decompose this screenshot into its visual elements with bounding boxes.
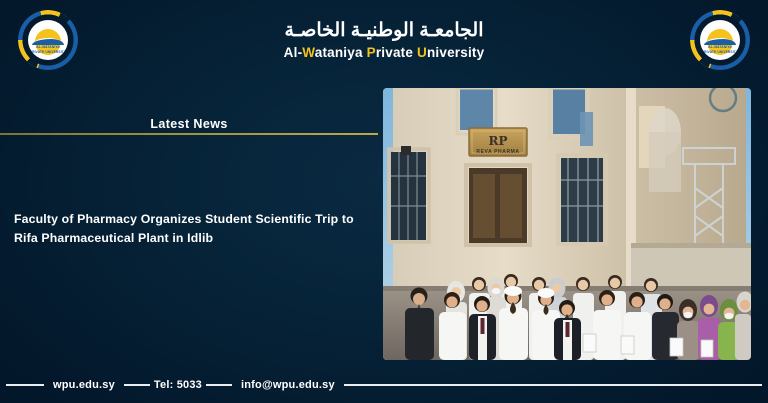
- news-photo-image: RP REVA PHARMA: [383, 88, 751, 360]
- logo-wordmark-line2: PRIVATE UNIVERSITY: [700, 50, 740, 55]
- footer-divider-line: [344, 384, 762, 386]
- section-label-latest-news: Latest News: [0, 117, 378, 131]
- title-part-5: U: [417, 45, 427, 60]
- footer-divider-line: [206, 384, 232, 386]
- title-part-1: W: [302, 45, 314, 60]
- logo-emblem-icon: AL-WATANIYA PRIVATE UNIVERSITY: [28, 20, 68, 60]
- university-logo-right: AL-WATANIYA PRIVATE UNIVERSITY: [690, 10, 750, 70]
- svg-text:RP: RP: [489, 134, 508, 148]
- university-logo-left: AL-WATANIYA PRIVATE UNIVERSITY: [18, 10, 78, 70]
- svg-text:REVA PHARMA: REVA PHARMA: [476, 149, 519, 155]
- title-part-0: Al-: [284, 45, 303, 60]
- news-banner: الجامعـة الوطنيـة الخاصـة Al-Wataniya Pr…: [0, 0, 768, 403]
- header-titles: الجامعـة الوطنيـة الخاصـة Al-Wataniya Pr…: [284, 20, 485, 60]
- logo-wordmark-line2: PRIVATE UNIVERSITY: [28, 50, 68, 55]
- page-footer: wpu.edu.sy Tel: 5033 info@wpu.edu.sy: [0, 367, 768, 403]
- logo-emblem-icon: AL-WATANIYA PRIVATE UNIVERSITY: [700, 20, 740, 60]
- news-photo: RP REVA PHARMA: [383, 88, 751, 360]
- page-header: الجامعـة الوطنيـة الخاصـة Al-Wataniya Pr…: [0, 0, 768, 80]
- news-headline: Faculty of Pharmacy Organizes Student Sc…: [14, 210, 366, 248]
- footer-phone[interactable]: Tel: 5033: [150, 379, 206, 391]
- footer-divider-line: [6, 384, 44, 386]
- title-part-6: niversity: [427, 45, 484, 60]
- footer-email[interactable]: info@wpu.edu.sy: [232, 379, 344, 391]
- logo-wordmark: AL-WATANIYA PRIVATE UNIVERSITY: [700, 45, 740, 55]
- logo-wordmark: AL-WATANIYA PRIVATE UNIVERSITY: [28, 45, 68, 55]
- title-part-2: ataniya: [315, 45, 367, 60]
- gold-divider: [0, 133, 378, 135]
- title-part-3: P: [367, 45, 376, 60]
- footer-website[interactable]: wpu.edu.sy: [44, 379, 124, 391]
- university-name-arabic: الجامعـة الوطنيـة الخاصـة: [284, 20, 485, 41]
- footer-divider-line: [124, 384, 150, 386]
- title-part-4: rivate: [376, 45, 417, 60]
- university-name-english: Al-Wataniya Private University: [284, 45, 485, 60]
